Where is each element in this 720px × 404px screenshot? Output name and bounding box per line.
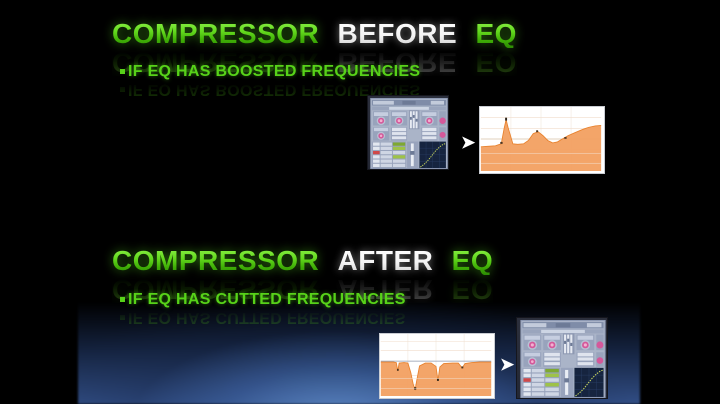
compressor-plugin-graphic-before [370, 98, 448, 169]
slide-canvas: COMPRESSOR BEFORE EQ COMPRESSOR BEFORE E… [0, 0, 720, 404]
bullet-square-icon-reflect [120, 87, 125, 92]
title2-word-after: AFTER [338, 247, 434, 275]
cutted-spectrum-panel[interactable] [379, 333, 495, 399]
bullet-text: IF EQ HAS BOOSTED FREQUENCIES [128, 63, 420, 80]
bullet2-text-reflect: IF EQ HAS CUTTED FREQUENCIES [128, 309, 406, 326]
bullet2-square-icon-reflect [120, 315, 125, 320]
compressor-plugin-before[interactable] [367, 95, 449, 170]
title2-word-eq: EQ [452, 247, 493, 275]
section-after-title: COMPRESSOR AFTER EQ [112, 247, 493, 275]
title-word-before: BEFORE [338, 20, 458, 48]
section-before-bullet: IF EQ HAS BOOSTED FREQUENCIES [120, 64, 420, 80]
flow-arrow-after: ➤ [500, 356, 514, 373]
cutted-spectrum-graphic [380, 334, 492, 396]
bullet2-square-icon [120, 297, 125, 302]
bullet-square-icon [120, 69, 125, 74]
bullet2-text: IF EQ HAS CUTTED FREQUENCIES [128, 291, 406, 308]
title-word-eq: EQ [476, 20, 517, 48]
section-after-bullet: IF EQ HAS CUTTED FREQUENCIES [120, 292, 406, 308]
title-word-compressor: COMPRESSOR [112, 20, 319, 48]
section-after-bullet-reflection: IF EQ HAS CUTTED FREQUENCIES [120, 309, 406, 325]
title2-word-compressor: COMPRESSOR [112, 247, 319, 275]
title2-word-eq-reflect: EQ [452, 274, 493, 305]
compressor-plugin-after[interactable] [516, 317, 608, 399]
section-before-title: COMPRESSOR BEFORE EQ [112, 20, 517, 48]
boosted-spectrum-panel[interactable] [479, 106, 605, 174]
compressor-plugin-graphic-after [519, 320, 607, 398]
flow-arrow-before: ➤ [461, 134, 475, 151]
title-word-eq-reflect: EQ [476, 47, 517, 78]
boosted-spectrum-graphic [480, 107, 602, 171]
